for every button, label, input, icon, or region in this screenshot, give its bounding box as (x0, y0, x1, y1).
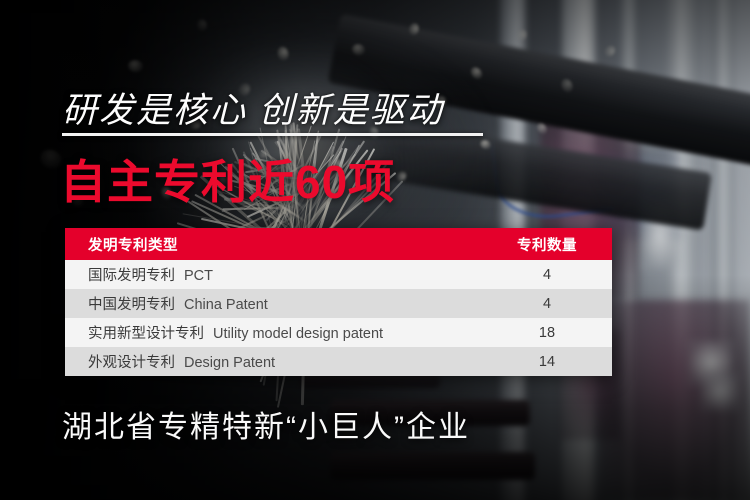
table-row: 外观设计专利Design Patent14 (65, 347, 612, 376)
patent-type-en: Utility model design patent (213, 326, 383, 342)
table-row: 实用新型设计专利Utility model design patent18 (65, 318, 612, 347)
table-row: 中国发明专利China Patent4 (65, 289, 612, 318)
patent-type-cn: 中国发明专利 (88, 297, 175, 313)
cell-patent-count: 4 (482, 267, 612, 283)
column-header-count: 专利数量 (482, 234, 612, 255)
cell-patent-type: 中国发明专利China Patent (65, 293, 482, 314)
patent-type-cn: 国际发明专利 (88, 268, 175, 284)
table-body: 国际发明专利PCT4中国发明专利China Patent4实用新型设计专利Uti… (65, 260, 612, 376)
table-header-row: 发明专利类型 专利数量 (65, 228, 612, 260)
cell-patent-count: 14 (482, 354, 612, 370)
column-header-type: 发明专利类型 (65, 234, 482, 255)
banner-content: 研发是核心 创新是驱动 自主专利近60项 发明专利类型 专利数量 国际发明专利P… (0, 0, 750, 500)
table-row: 国际发明专利PCT4 (65, 260, 612, 289)
patent-type-cn: 实用新型设计专利 (88, 326, 204, 342)
cell-patent-count: 4 (482, 296, 612, 312)
banner-stage: 研发是核心 创新是驱动 自主专利近60项 发明专利类型 专利数量 国际发明专利P… (0, 0, 750, 500)
headline-text: 研发是核心 创新是驱动 (62, 82, 444, 133)
cell-patent-type: 外观设计专利Design Patent (65, 351, 482, 372)
patent-type-cn: 外观设计专利 (88, 355, 175, 371)
headline-divider (62, 133, 483, 136)
patent-type-en: China Patent (184, 297, 268, 313)
patent-type-en: PCT (184, 268, 213, 284)
footer-text: 湖北省专精特新“小巨人”企业 (62, 402, 470, 446)
cell-patent-type: 实用新型设计专利Utility model design patent (65, 322, 482, 343)
patent-table: 发明专利类型 专利数量 国际发明专利PCT4中国发明专利China Patent… (65, 228, 612, 376)
cell-patent-count: 18 (482, 325, 612, 341)
cell-patent-type: 国际发明专利PCT (65, 264, 482, 285)
subheadline-text: 自主专利近60项 (60, 146, 395, 212)
patent-type-en: Design Patent (184, 355, 275, 371)
